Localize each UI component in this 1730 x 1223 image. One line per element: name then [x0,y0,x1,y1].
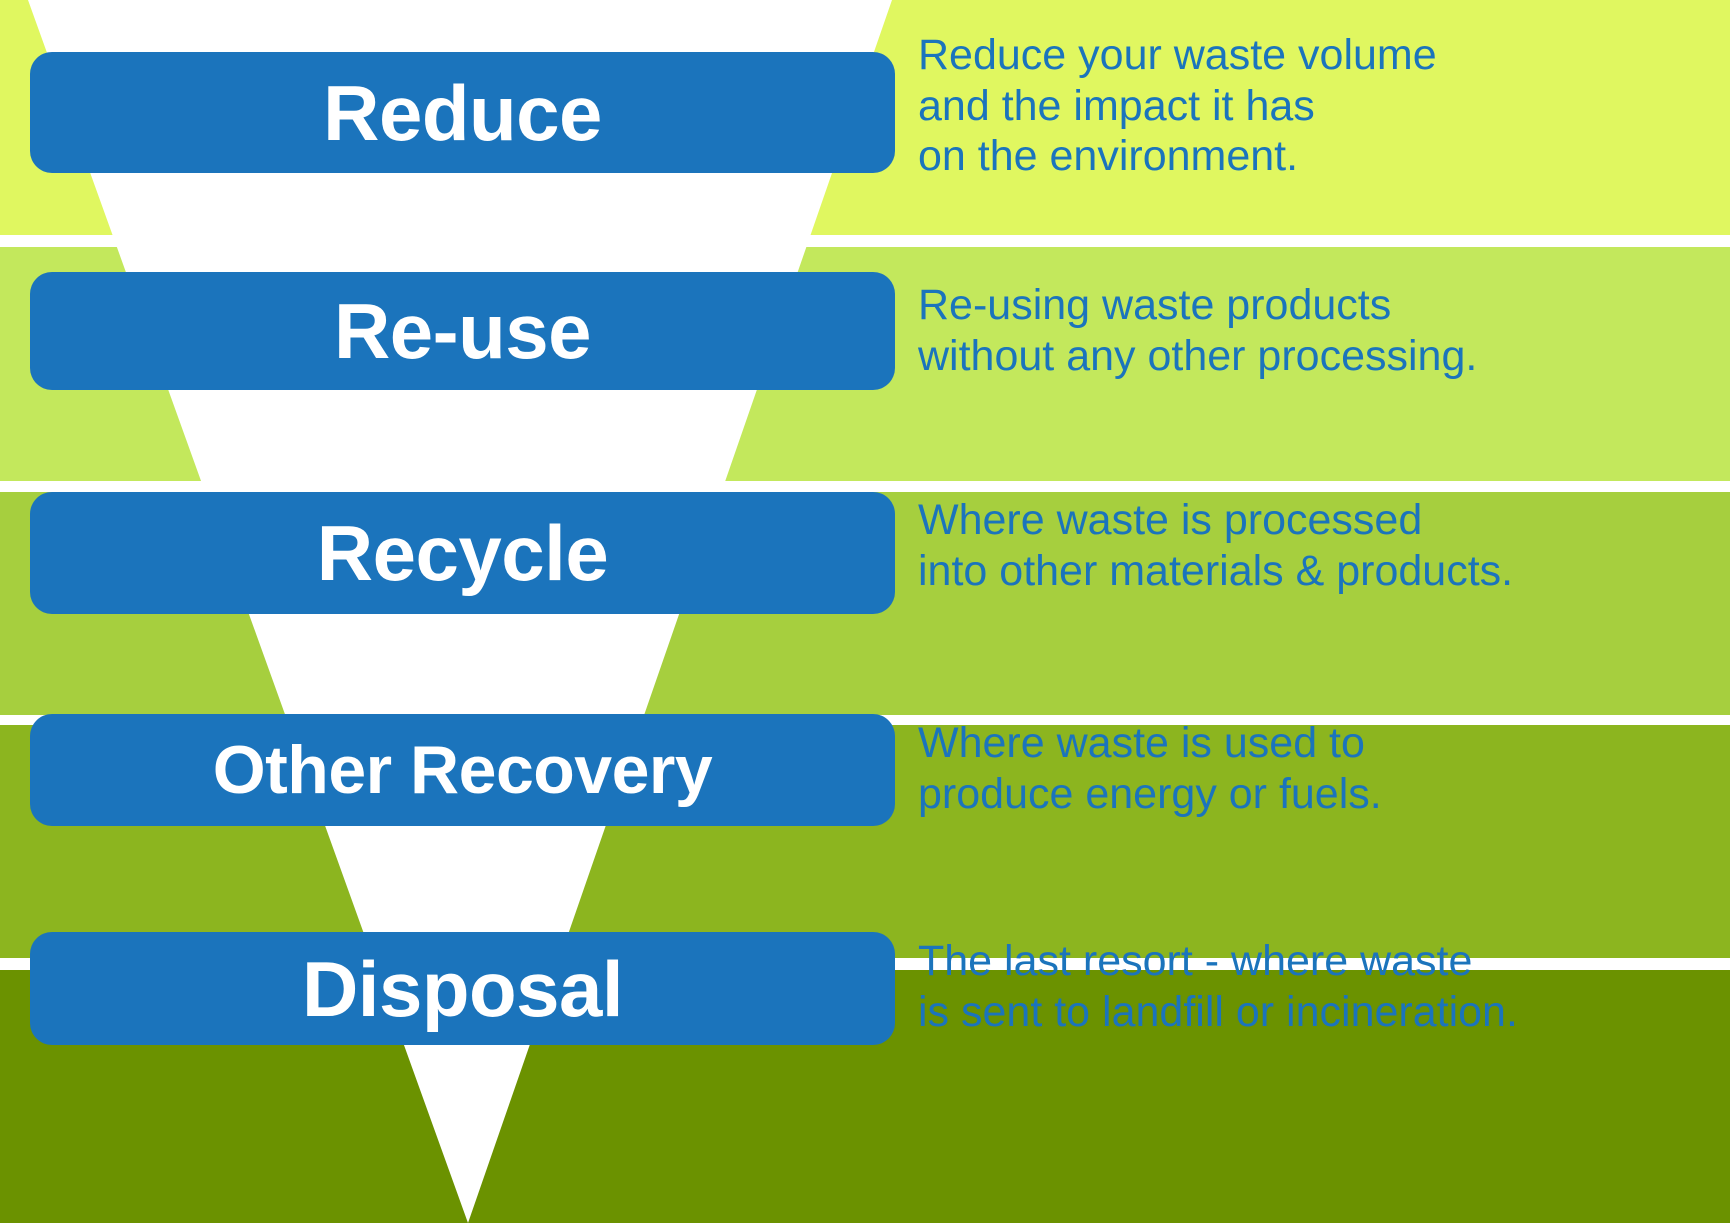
waste-hierarchy-diagram: Reduce Re-use Recycle Other Recovery Dis… [0,0,1730,1223]
level-description-reduce: Reduce your waste volume and the impact … [918,30,1718,182]
level-description-recycle: Where waste is processed into other mate… [918,495,1718,596]
level-description-reuse: Re-using waste products without any othe… [918,280,1718,381]
level-bar-other-recovery[interactable]: Other Recovery [30,714,895,826]
level-bar-reuse[interactable]: Re-use [30,272,895,390]
level-label-reuse: Re-use [334,292,591,370]
level-description-other-recovery: Where waste is used to produce energy or… [918,718,1718,819]
level-label-disposal: Disposal [302,950,623,1028]
level-label-other-recovery: Other Recovery [213,736,712,804]
level-label-recycle: Recycle [317,514,608,592]
level-description-disposal: The last resort - where waste is sent to… [918,936,1718,1037]
level-bar-disposal[interactable]: Disposal [30,932,895,1045]
level-label-reduce: Reduce [323,74,602,152]
level-bar-recycle[interactable]: Recycle [30,492,895,614]
level-bar-reduce[interactable]: Reduce [30,52,895,173]
